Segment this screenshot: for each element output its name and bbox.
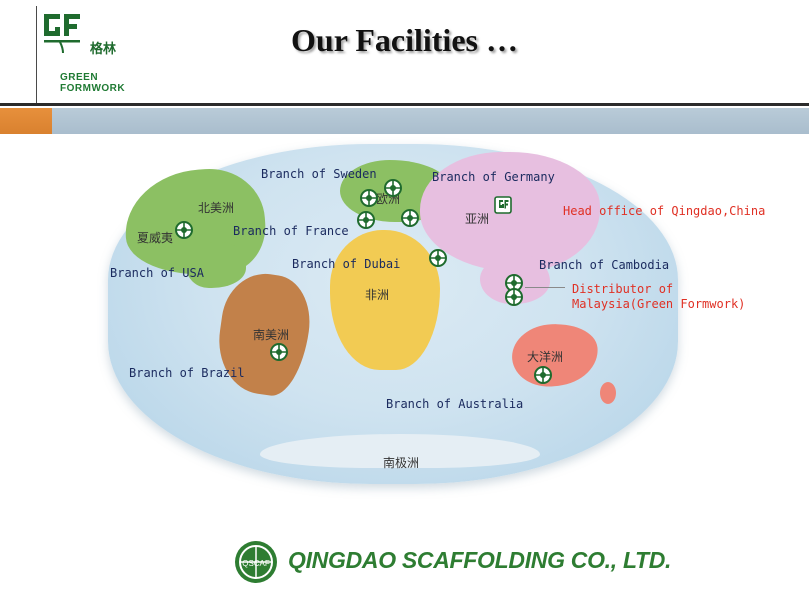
label-distributor-malaysia: Distributor of Malaysia(Green Formwork) <box>572 282 752 312</box>
label-antarctica: 南极洲 <box>383 454 419 471</box>
page-title: Our Facilities … <box>0 22 809 59</box>
label-north-america: 北美洲 <box>198 199 234 216</box>
slide-header: 格林 GREEN FORMWORK Our Facilities … <box>0 0 809 108</box>
label-hawaii: 夏威夷 <box>137 229 173 246</box>
svg-text:QSCAF: QSCAF <box>242 559 270 568</box>
label-branch-brazil: Branch of Brazil <box>129 366 245 380</box>
marker-germany-icon[interactable] <box>384 179 402 197</box>
header-horizontal-rule <box>0 103 809 106</box>
company-name: QINGDAO SCAFFOLDING CO., LTD. <box>288 547 671 574</box>
leader-line-malaysia <box>525 287 565 288</box>
label-africa: 非洲 <box>365 286 389 303</box>
continent-central-america <box>186 242 246 288</box>
label-branch-cambodia: Branch of Cambodia <box>539 258 669 272</box>
label-branch-sweden: Branch of Sweden <box>261 167 377 181</box>
slide-footer: QSCAF QINGDAO SCAFFOLDING CO., LTD. <box>0 529 809 607</box>
label-branch-usa: Branch of USA <box>110 266 204 280</box>
qscaf-badge-icon: QSCAF <box>233 539 279 585</box>
marker-qingdao-icon[interactable] <box>494 196 512 214</box>
marker-dubai-icon[interactable] <box>401 209 419 227</box>
marker-france-icon[interactable] <box>357 211 375 229</box>
marker-australia-icon[interactable] <box>534 366 552 384</box>
logo-english-name: GREEN FORMWORK <box>60 72 156 94</box>
label-head-office: Head office of Qingdao,China <box>563 204 765 218</box>
label-branch-france: Branch of France <box>233 224 349 238</box>
header-vertical-rule <box>36 6 37 104</box>
label-branch-germany: Branch of Germany <box>432 170 555 184</box>
label-branch-dubai: Branch of Dubai <box>292 257 400 271</box>
accent-band <box>0 108 809 134</box>
marker-usa-icon[interactable] <box>175 221 193 239</box>
marker-malaysia-icon[interactable] <box>505 288 523 306</box>
accent-band-orange <box>0 108 52 134</box>
marker-brazil-icon[interactable] <box>270 343 288 361</box>
label-oceania: 大洋洲 <box>527 348 563 365</box>
continent-new-zealand <box>600 382 616 404</box>
label-south-america: 南美洲 <box>253 326 289 343</box>
marker-middle-east-icon[interactable] <box>429 249 447 267</box>
label-asia: 亚洲 <box>465 210 489 227</box>
label-branch-australia: Branch of Australia <box>386 397 523 411</box>
world-map: 北美洲 夏威夷 南美洲 欧洲 非洲 亚洲 大洋洲 南极洲 Branch of S… <box>0 134 809 529</box>
marker-sweden-icon[interactable] <box>360 189 378 207</box>
